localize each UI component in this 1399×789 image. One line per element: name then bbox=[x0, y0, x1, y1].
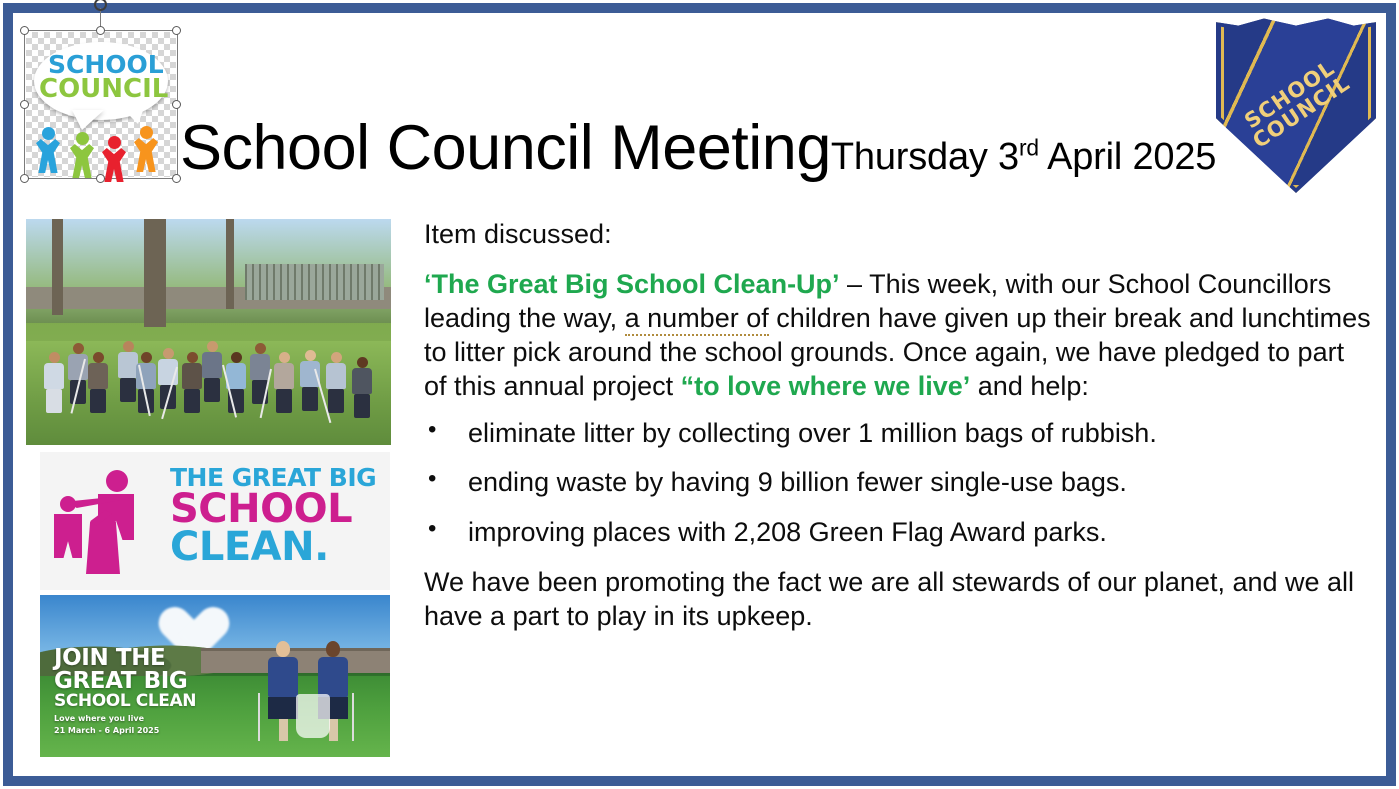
great-big-school-clean-logo[interactable]: THE GREAT BIG SCHOOL CLEAN. bbox=[40, 452, 390, 590]
logo-people-icon bbox=[54, 470, 164, 574]
banner-litter-picker-right bbox=[352, 693, 354, 741]
photo-child bbox=[118, 341, 138, 402]
logo-word-council: COUNCIL bbox=[39, 76, 168, 102]
resize-handle-bottom-left[interactable] bbox=[20, 174, 29, 183]
photo-tree-trunk-1 bbox=[144, 219, 166, 327]
banner-tagline: Love where you live bbox=[54, 713, 159, 725]
slogan-highlight: “to love where we live’ bbox=[681, 371, 971, 401]
resize-handle-top-right[interactable] bbox=[172, 26, 181, 35]
photo-child bbox=[274, 352, 294, 413]
paragraph-text-3: and help: bbox=[970, 371, 1089, 401]
rotation-handle-stem bbox=[100, 8, 101, 28]
banner-headline-line2: GREAT BIG bbox=[54, 670, 196, 693]
photo-tree-trunk-2 bbox=[52, 219, 63, 315]
photo-child bbox=[326, 352, 346, 413]
photo-child bbox=[44, 352, 64, 413]
meeting-date-suffix: April 2025 bbox=[1039, 136, 1216, 178]
closing-paragraph: We have been promoting the fact we are a… bbox=[424, 565, 1372, 633]
banner-headline-line3: SCHOOL CLEAN bbox=[54, 693, 196, 710]
list-item: improving places with 2,208 Green Flag A… bbox=[424, 516, 1372, 548]
resize-handle-top-center[interactable] bbox=[96, 26, 105, 35]
photo-tree-trunk-3 bbox=[226, 219, 234, 309]
meeting-date-ordinal: rd bbox=[1019, 134, 1039, 160]
banner-rubbish-bag bbox=[296, 694, 330, 738]
meeting-date: Thursday 3rd April 2025 bbox=[831, 136, 1216, 178]
project-title-highlight: ‘The Great Big School Clean-Up’ bbox=[424, 269, 840, 299]
meeting-date-prefix: Thursday 3 bbox=[831, 136, 1019, 178]
photo-child bbox=[202, 341, 222, 402]
banner-subtext: Love where you live 21 March - 6 April 2… bbox=[54, 713, 159, 738]
slide-canvas: SCHOOL COUNCIL School Co bbox=[0, 0, 1399, 789]
photo-child bbox=[226, 352, 246, 413]
rotate-handle[interactable] bbox=[94, 0, 107, 11]
school-council-logo[interactable]: SCHOOL COUNCIL bbox=[26, 32, 176, 177]
slide-title-block[interactable]: School Council MeetingThursday 3rd April… bbox=[180, 112, 1216, 184]
resize-handle-bottom-center[interactable] bbox=[96, 174, 105, 183]
logo-wordmark: THE GREAT BIG SCHOOL CLEAN. bbox=[170, 466, 376, 566]
page-title: School Council Meeting bbox=[180, 113, 831, 183]
photo-children-litter-picking[interactable] bbox=[26, 219, 391, 445]
banner-dates: 21 March - 6 April 2025 bbox=[54, 725, 159, 737]
photo-child bbox=[250, 343, 270, 404]
logo-line-2: SCHOOL bbox=[170, 490, 376, 528]
aims-bullet-list: eliminate litter by collecting over 1 mi… bbox=[424, 417, 1372, 548]
banner-headline: JOIN THE GREAT BIG SCHOOL CLEAN bbox=[54, 647, 196, 710]
banner-litter-picker-left bbox=[258, 693, 260, 741]
photo-fence bbox=[245, 264, 384, 300]
banner-pupil-left bbox=[268, 641, 298, 741]
banner-headline-line1: JOIN THE bbox=[54, 647, 196, 670]
speech-bubble-tail-right bbox=[122, 108, 144, 124]
photo-child bbox=[68, 343, 88, 404]
speech-bubble-tail-left bbox=[72, 110, 104, 130]
flagged-phrase: a number of bbox=[625, 303, 769, 336]
content-text-body[interactable]: Item discussed: ‘The Great Big School Cl… bbox=[424, 218, 1372, 633]
photo-child bbox=[88, 352, 108, 413]
resize-handle-top-left[interactable] bbox=[20, 26, 29, 35]
resize-handle-middle-right[interactable] bbox=[172, 100, 181, 109]
list-item: ending waste by having 9 billion fewer s… bbox=[424, 466, 1372, 498]
photo-child bbox=[352, 357, 372, 418]
logo-line-3: CLEAN. bbox=[170, 528, 376, 566]
photo-child bbox=[182, 352, 202, 413]
main-paragraph: ‘The Great Big School Clean-Up’ – This w… bbox=[424, 267, 1372, 403]
resize-handle-middle-left[interactable] bbox=[20, 100, 29, 109]
school-council-shield-badge: SCHOOL COUNCIL bbox=[1216, 15, 1376, 193]
item-discussed-heading: Item discussed: bbox=[424, 218, 1372, 251]
list-item: eliminate litter by collecting over 1 mi… bbox=[424, 417, 1372, 449]
join-the-great-big-school-clean-banner[interactable]: JOIN THE GREAT BIG SCHOOL CLEAN Love whe… bbox=[40, 595, 390, 757]
